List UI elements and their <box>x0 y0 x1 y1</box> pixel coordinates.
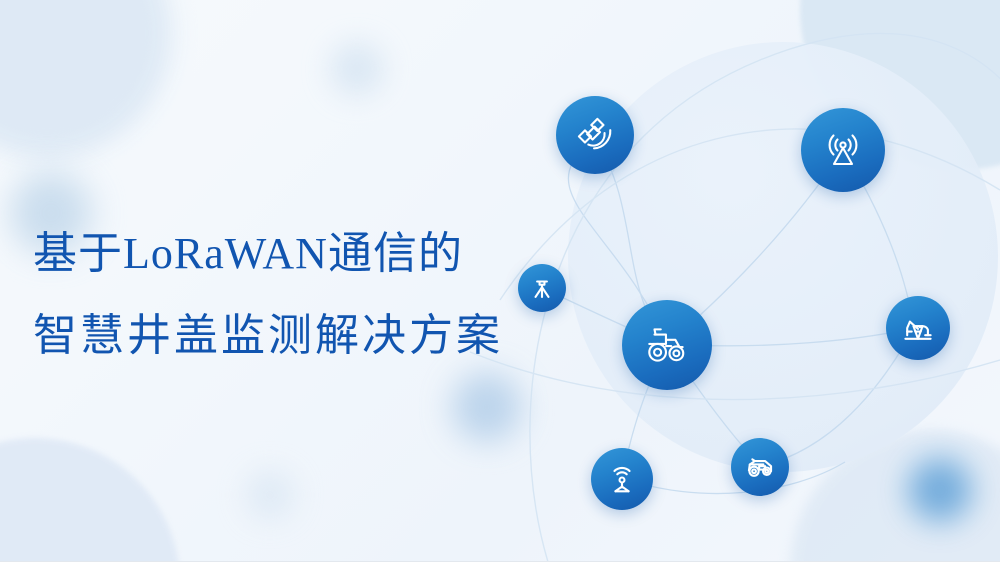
node-tractor[interactable] <box>622 300 712 390</box>
harvester-vehicle-icon <box>743 450 777 484</box>
node-beacon[interactable] <box>591 448 653 510</box>
oil-pumpjack-icon <box>900 310 936 346</box>
link-harvester-oilpump <box>761 328 914 466</box>
decorative-globe-circle <box>568 42 998 472</box>
decorative-dot-center <box>452 372 522 442</box>
title-block: 基于LoRaWAN通信的 智慧井盖监测解决方案 <box>33 232 573 358</box>
title-line-1: 基于LoRaWAN通信的 <box>33 232 573 276</box>
node-radio-tower[interactable] <box>801 108 885 192</box>
title-line-2: 智慧井盖监测解决方案 <box>33 314 573 358</box>
node-satellite[interactable] <box>556 96 634 174</box>
signal-beacon-icon <box>605 462 639 496</box>
decorative-dot-bottom <box>245 470 295 520</box>
tractor-icon <box>642 320 692 370</box>
decorative-blob-top-left <box>0 0 172 158</box>
radio-tower-icon <box>821 128 865 172</box>
node-oil-pump[interactable] <box>886 296 950 360</box>
decorative-blob-bottom-left <box>0 438 180 562</box>
presentation-slide: 基于LoRaWAN通信的 智慧井盖监测解决方案 <box>0 0 1000 562</box>
satellite-dish-icon <box>574 114 616 156</box>
decorative-blob-bottom-right <box>790 430 1000 562</box>
decorative-dot-bottom-right <box>908 458 972 522</box>
decorative-dot-top <box>330 42 384 96</box>
node-harvester[interactable] <box>731 438 789 496</box>
